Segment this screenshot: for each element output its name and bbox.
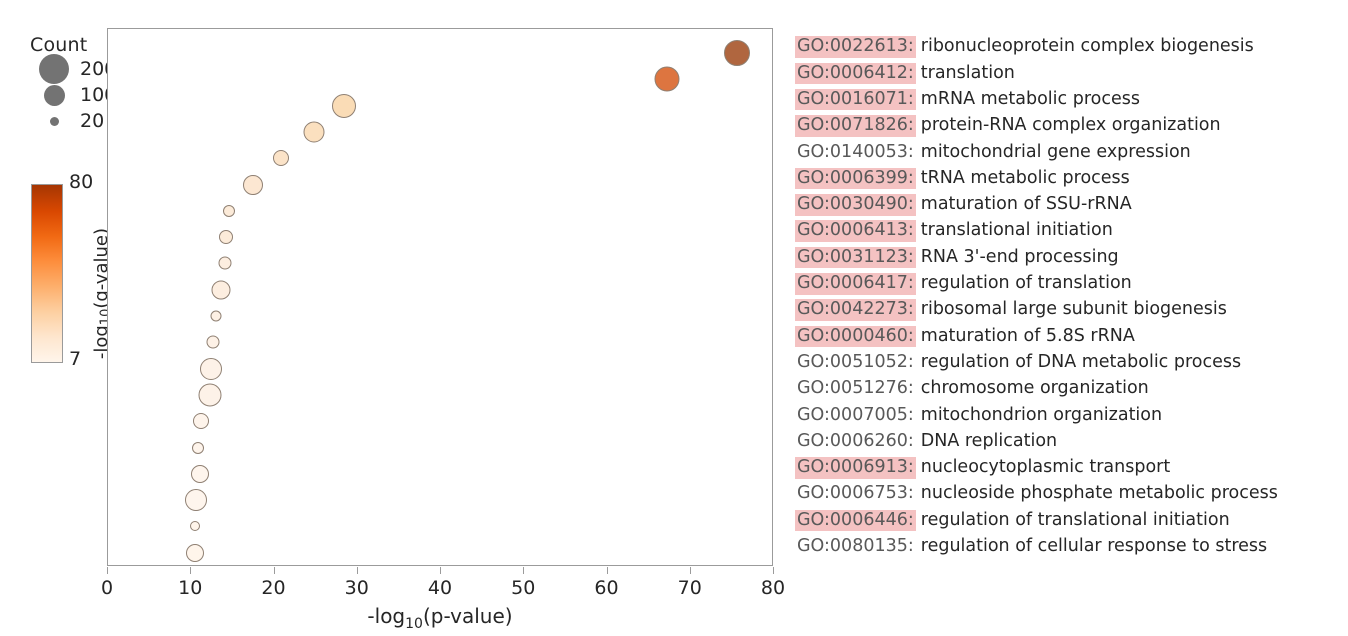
- data-point[interactable]: [193, 413, 209, 429]
- go-term-name: RNA 3'-end processing: [921, 249, 1119, 267]
- data-point[interactable]: [186, 544, 204, 562]
- x-axis-tick: [773, 567, 774, 574]
- go-term-id: GO:0051052:: [795, 352, 916, 374]
- x-axis-tick: [607, 567, 608, 574]
- go-term-row[interactable]: GO:0031123:RNA 3'-end processing: [795, 244, 1340, 270]
- count-legend-bubble-cell: [30, 54, 78, 84]
- go-term-row[interactable]: GO:0006412:translation: [795, 60, 1340, 86]
- data-point[interactable]: [211, 311, 222, 322]
- data-point[interactable]: [218, 257, 231, 270]
- go-term-id: GO:0006446:: [795, 510, 916, 532]
- go-term-row[interactable]: GO:0022613:ribonucleoprotein complex bio…: [795, 34, 1340, 60]
- data-point[interactable]: [199, 383, 222, 406]
- go-term-row[interactable]: GO:0071826:protein-RNA complex organizat…: [795, 113, 1340, 139]
- go-term-id: GO:0006913:: [795, 457, 916, 479]
- x-axis-tick-label: 20: [261, 577, 285, 599]
- go-term-row[interactable]: GO:0006260:DNA replication: [795, 428, 1340, 454]
- go-term-name: translation: [921, 65, 1015, 83]
- go-term-name: nucleoside phosphate metabolic process: [921, 485, 1278, 503]
- data-point[interactable]: [243, 175, 263, 195]
- go-term-name: mitochondrial gene expression: [921, 144, 1191, 162]
- go-term-row[interactable]: GO:0006446:regulation of translational i…: [795, 507, 1340, 533]
- x-axis-tick-label: 0: [101, 577, 113, 599]
- go-term-list: GO:0022613:ribonucleoprotein complex bio…: [795, 34, 1340, 560]
- go-term-row[interactable]: GO:0006417:regulation of translation: [795, 271, 1340, 297]
- count-legend-entries: 20010020: [30, 56, 116, 134]
- go-term-id: GO:0071826:: [795, 115, 916, 137]
- go-term-name: translational initiation: [921, 222, 1113, 240]
- x-axis-tick-label: 30: [345, 577, 369, 599]
- data-point[interactable]: [200, 358, 222, 380]
- colorbar-min-label: 7: [69, 348, 81, 370]
- go-term-id: GO:0051276:: [795, 378, 916, 400]
- go-term-name: maturation of SSU-rRNA: [921, 196, 1132, 214]
- count-legend-row: 100: [30, 82, 116, 108]
- go-term-row[interactable]: GO:0006413:translational initiation: [795, 218, 1340, 244]
- x-axis-tick-label: 80: [761, 577, 785, 599]
- go-term-row[interactable]: GO:0016071:mRNA metabolic process: [795, 87, 1340, 113]
- count-legend-row: 20: [30, 108, 116, 134]
- data-point[interactable]: [724, 40, 750, 66]
- plot-area: [107, 28, 773, 566]
- data-point[interactable]: [273, 150, 289, 166]
- go-term-name: DNA replication: [921, 433, 1057, 451]
- x-axis-tick-label: 10: [178, 577, 202, 599]
- count-legend-bubble: [39, 54, 69, 84]
- go-term-id: GO:0007005:: [795, 405, 916, 427]
- data-point[interactable]: [219, 230, 233, 244]
- x-axis-tick: [440, 567, 441, 574]
- x-axis-tick-label: 60: [594, 577, 618, 599]
- go-term-id: GO:0006399:: [795, 168, 916, 190]
- x-axis-tick-label: 40: [428, 577, 452, 599]
- data-point[interactable]: [212, 280, 231, 299]
- data-point[interactable]: [190, 521, 200, 531]
- go-term-id: GO:0140053:: [795, 142, 916, 164]
- x-axis-tick: [523, 567, 524, 574]
- count-legend-bubble: [44, 85, 65, 106]
- count-legend-bubble-cell: [30, 117, 78, 126]
- go-term-id: GO:0006413:: [795, 220, 916, 242]
- data-point[interactable]: [655, 67, 680, 92]
- go-term-name: ribosomal large subunit biogenesis: [921, 301, 1227, 319]
- data-point[interactable]: [191, 465, 209, 483]
- data-point[interactable]: [303, 121, 324, 142]
- go-term-name: chromosome organization: [921, 380, 1149, 398]
- go-term-row[interactable]: GO:0051052:regulation of DNA metabolic p…: [795, 350, 1340, 376]
- go-term-name: ribonucleoprotein complex biogenesis: [921, 38, 1254, 56]
- go-term-id: GO:0042273:: [795, 299, 916, 321]
- go-term-row[interactable]: GO:0007005:mitochondrion organization: [795, 402, 1340, 428]
- data-point[interactable]: [185, 489, 207, 511]
- go-term-row[interactable]: GO:0140053:mitochondrial gene expression: [795, 139, 1340, 165]
- go-term-name: protein-RNA complex organization: [921, 117, 1221, 135]
- go-term-id: GO:0031123:: [795, 247, 916, 269]
- go-term-name: mitochondrion organization: [921, 407, 1162, 425]
- go-term-row[interactable]: GO:0000460:maturation of 5.8S rRNA: [795, 323, 1340, 349]
- colorbar-max-label: 80: [69, 171, 93, 193]
- go-term-id: GO:0006260:: [795, 431, 916, 453]
- go-term-id: GO:0006412:: [795, 63, 916, 85]
- data-point[interactable]: [332, 94, 356, 118]
- go-term-row[interactable]: GO:0030490:maturation of SSU-rRNA: [795, 192, 1340, 218]
- x-axis-tick: [357, 567, 358, 574]
- go-term-row[interactable]: GO:0006753:nucleoside phosphate metaboli…: [795, 481, 1340, 507]
- count-size-legend: Count 20010020: [30, 34, 116, 134]
- go-term-name: regulation of translation: [921, 275, 1132, 293]
- go-term-id: GO:0000460:: [795, 326, 916, 348]
- go-term-name: nucleocytoplasmic transport: [921, 459, 1170, 477]
- colorbar-gradient: [31, 184, 63, 363]
- go-term-id: GO:0006753:: [795, 483, 916, 505]
- go-term-name: regulation of cellular response to stres…: [921, 538, 1267, 556]
- x-axis-tick: [690, 567, 691, 574]
- go-term-id: GO:0080135:: [795, 536, 916, 558]
- x-axis-tick-label: 50: [511, 577, 535, 599]
- go-term-name: regulation of translational initiation: [921, 512, 1230, 530]
- go-term-name: regulation of DNA metabolic process: [921, 354, 1241, 372]
- count-legend-label: 20: [80, 110, 104, 132]
- go-term-id: GO:0016071:: [795, 89, 916, 111]
- go-enrichment-dotplot: Count 20010020 80 7 -log10(q-value) 0102…: [0, 0, 1348, 636]
- qvalue-colorbar: 80 7 -log10(q-value): [31, 184, 63, 363]
- go-term-name: tRNA metabolic process: [921, 170, 1130, 188]
- go-term-id: GO:0030490:: [795, 194, 916, 216]
- count-legend-title: Count: [30, 34, 116, 56]
- count-legend-bubble: [50, 117, 59, 126]
- go-term-row[interactable]: GO:0051276:chromosome organization: [795, 376, 1340, 402]
- go-term-name: maturation of 5.8S rRNA: [921, 328, 1135, 346]
- go-term-name: mRNA metabolic process: [921, 91, 1140, 109]
- go-term-row[interactable]: GO:0006399:tRNA metabolic process: [795, 165, 1340, 191]
- data-point[interactable]: [192, 442, 204, 454]
- x-axis-tick: [107, 567, 108, 574]
- go-term-row[interactable]: GO:0006913:nucleocytoplasmic transport: [795, 455, 1340, 481]
- go-term-row[interactable]: GO:0080135:regulation of cellular respon…: [795, 534, 1340, 560]
- x-axis-tick: [274, 567, 275, 574]
- go-term-id: GO:0022613:: [795, 36, 916, 58]
- count-legend-bubble-cell: [30, 85, 78, 106]
- data-point[interactable]: [223, 205, 235, 217]
- x-axis-tick: [190, 567, 191, 574]
- x-axis-title: -log10(p-value): [367, 604, 512, 632]
- go-term-id: GO:0006417:: [795, 273, 916, 295]
- count-legend-row: 200: [30, 56, 116, 82]
- x-axis-tick-label: 70: [678, 577, 702, 599]
- data-point[interactable]: [206, 336, 219, 349]
- go-term-row[interactable]: GO:0042273:ribosomal large subunit bioge…: [795, 297, 1340, 323]
